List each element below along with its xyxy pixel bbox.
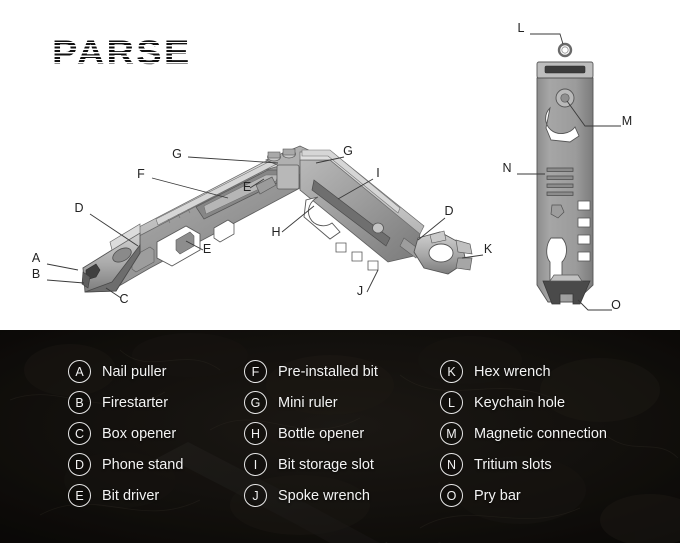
- callout-label-n: N: [502, 161, 511, 175]
- legend-item: GMini ruler: [244, 387, 378, 418]
- legend-item: OPry bar: [440, 480, 607, 511]
- legend-item: ANail puller: [68, 356, 183, 387]
- callout-label-c: C: [119, 292, 128, 306]
- legend-badge-i: I: [244, 453, 267, 476]
- legend-label: Tritium slots: [474, 457, 552, 473]
- legend-badge-m: M: [440, 422, 463, 445]
- callout-label-d: D: [444, 204, 453, 218]
- legend-item: MMagnetic connection: [440, 418, 607, 449]
- callout-label-m: M: [622, 114, 632, 128]
- diagram-panel: PARSE: [0, 0, 680, 330]
- legend-badge-c: C: [68, 422, 91, 445]
- legend-badge-g: G: [244, 391, 267, 414]
- legend-item: BFirestarter: [68, 387, 183, 418]
- legend-grid: ANail pullerBFirestarterCBox openerDPhon…: [0, 330, 680, 543]
- callout-label-g: G: [172, 147, 182, 161]
- legend-label: Box opener: [102, 426, 176, 442]
- legend-panel: ANail pullerBFirestarterCBox openerDPhon…: [0, 330, 680, 543]
- legend-item: EBit driver: [68, 480, 183, 511]
- legend-badge-b: B: [68, 391, 91, 414]
- legend-badge-f: F: [244, 360, 267, 383]
- legend-label: Nail puller: [102, 364, 166, 380]
- legend-item: LKeychain hole: [440, 387, 607, 418]
- legend-badge-o: O: [440, 484, 463, 507]
- legend-badge-a: A: [68, 360, 91, 383]
- legend-column-2: FPre-installed bitGMini rulerHBottle ope…: [244, 356, 378, 511]
- callout-label-j: J: [357, 284, 363, 298]
- legend-item: FPre-installed bit: [244, 356, 378, 387]
- legend-label: Firestarter: [102, 395, 168, 411]
- legend-item: IBit storage slot: [244, 449, 378, 480]
- callout-label-a: A: [32, 251, 41, 265]
- callout-label-l: L: [518, 21, 525, 35]
- tool-side-profile: [537, 44, 593, 304]
- callout-label-i: I: [376, 166, 379, 180]
- callout-label-d: D: [74, 201, 83, 215]
- multitool-illustration: ABCDEEFGGHIDKJLMNO: [0, 0, 680, 330]
- legend-item: HBottle opener: [244, 418, 378, 449]
- legend-label: Mini ruler: [278, 395, 338, 411]
- legend-item: KHex wrench: [440, 356, 607, 387]
- callout-label-e: E: [203, 242, 211, 256]
- infographic-page: PARSE: [0, 0, 680, 543]
- legend-badge-l: L: [440, 391, 463, 414]
- legend-label: Bit driver: [102, 488, 159, 504]
- legend-badge-k: K: [440, 360, 463, 383]
- legend-label: Spoke wrench: [278, 488, 370, 504]
- callout-label-k: K: [484, 242, 493, 256]
- callout-label-e: E: [243, 180, 251, 194]
- legend-item: JSpoke wrench: [244, 480, 378, 511]
- legend-column-1: ANail pullerBFirestarterCBox openerDPhon…: [68, 356, 183, 511]
- callout-label-h: H: [271, 225, 280, 239]
- legend-label: Pry bar: [474, 488, 521, 504]
- legend-item: NTritium slots: [440, 449, 607, 480]
- callout-label-o: O: [611, 298, 621, 312]
- legend-column-3: KHex wrenchLKeychain holeMMagnetic conne…: [440, 356, 607, 511]
- legend-label: Magnetic connection: [474, 426, 607, 442]
- legend-badge-h: H: [244, 422, 267, 445]
- legend-label: Pre-installed bit: [278, 364, 378, 380]
- legend-badge-e: E: [68, 484, 91, 507]
- legend-badge-j: J: [244, 484, 267, 507]
- legend-badge-d: D: [68, 453, 91, 476]
- legend-label: Bit storage slot: [278, 457, 374, 473]
- legend-item: CBox opener: [68, 418, 183, 449]
- callout-label-f: F: [137, 167, 145, 181]
- tool-left-arm: [82, 146, 300, 292]
- legend-label: Bottle opener: [278, 426, 364, 442]
- legend-badge-n: N: [440, 453, 463, 476]
- legend-label: Hex wrench: [474, 364, 551, 380]
- legend-item: DPhone stand: [68, 449, 183, 480]
- callout-label-g: G: [343, 144, 353, 158]
- legend-label: Keychain hole: [474, 395, 565, 411]
- legend-label: Phone stand: [102, 457, 183, 473]
- callout-label-b: B: [32, 267, 40, 281]
